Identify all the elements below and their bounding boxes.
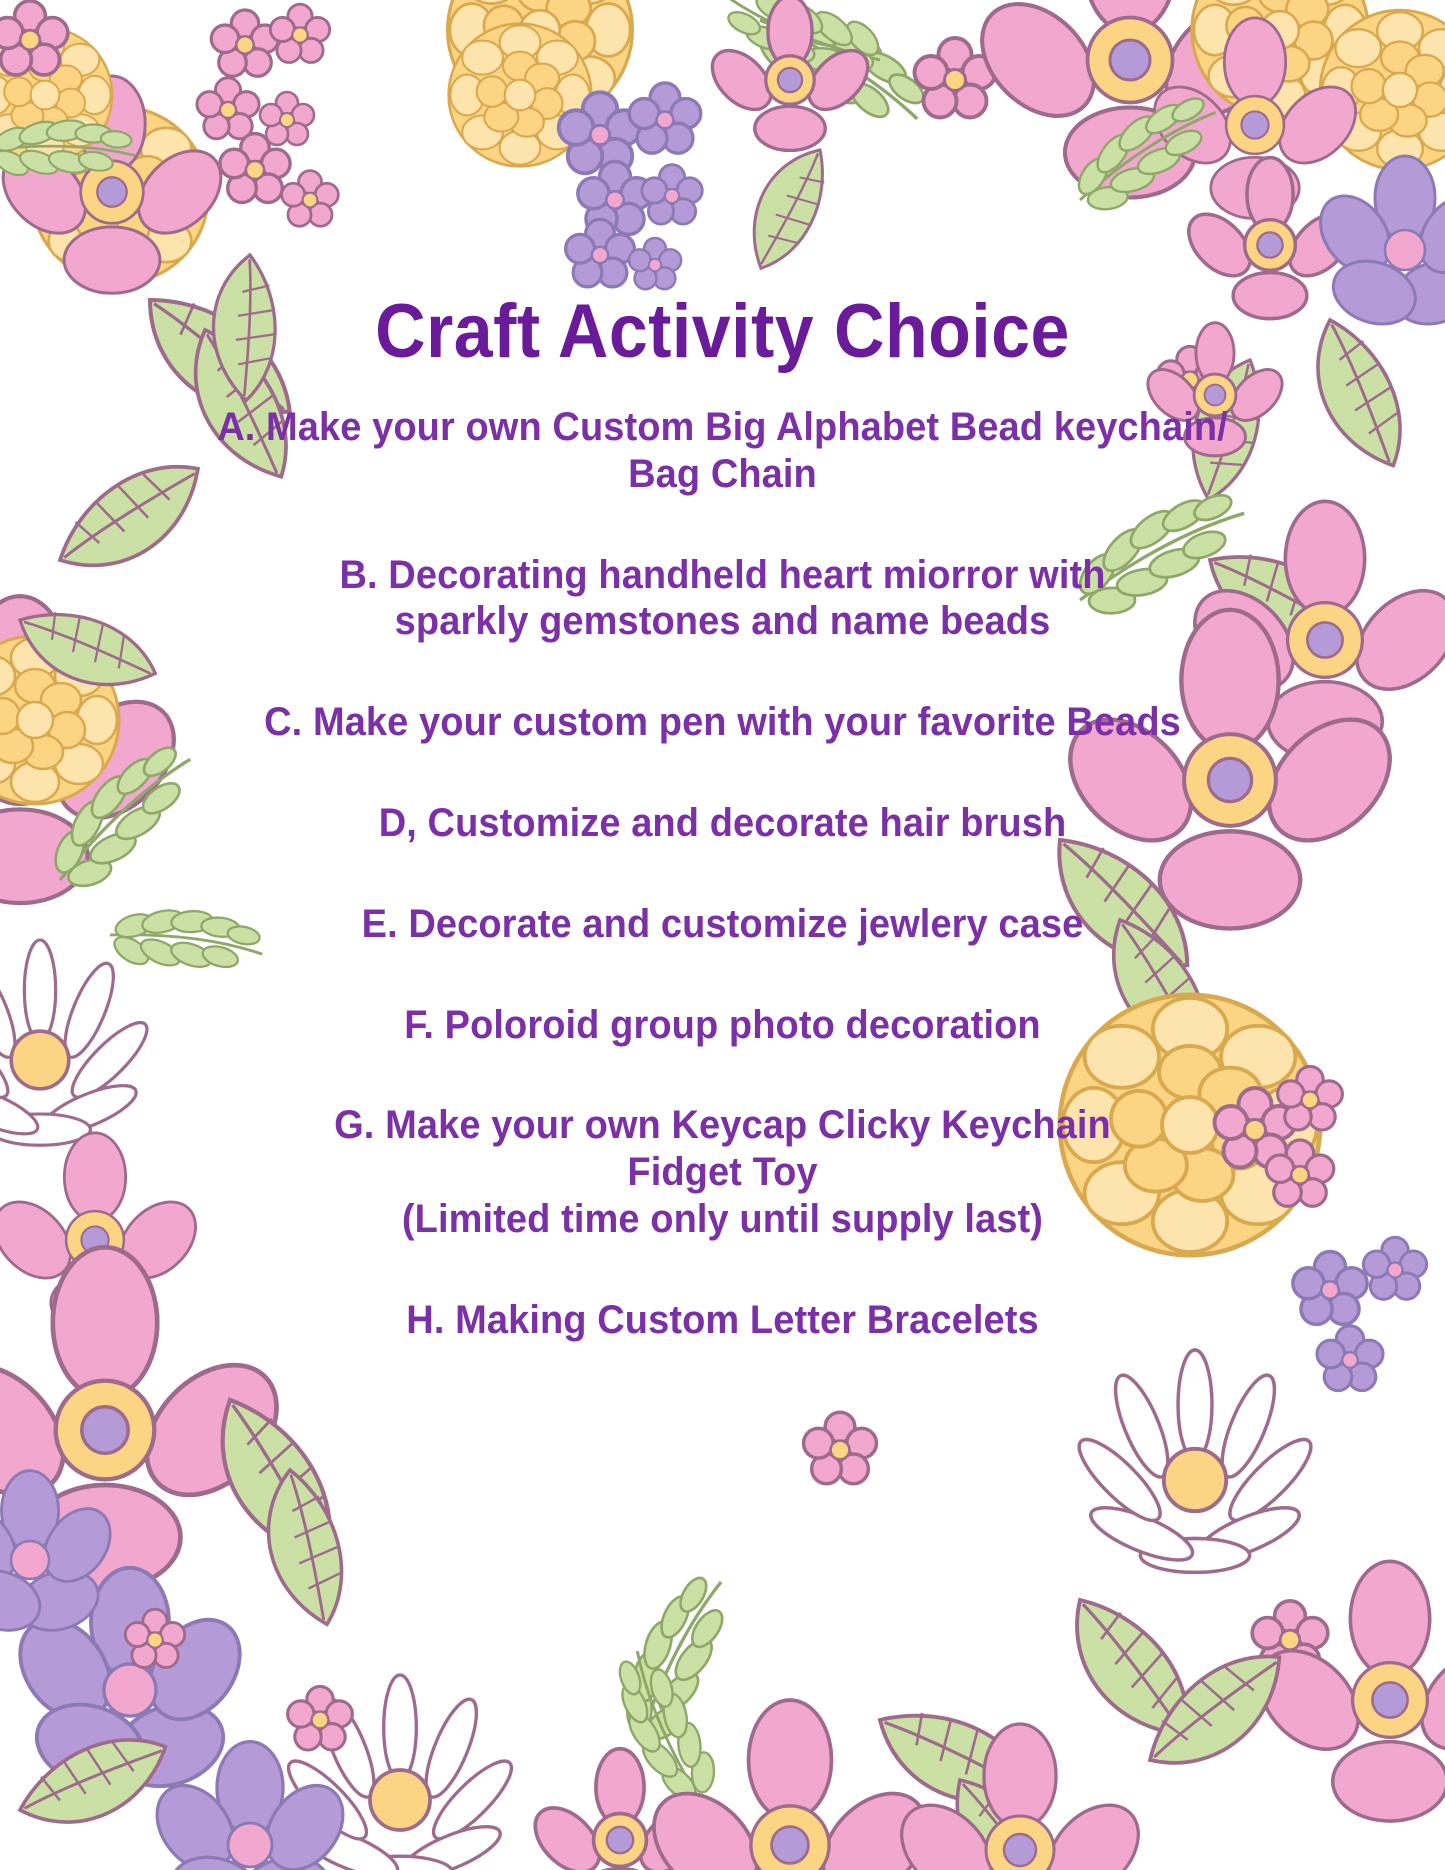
poster: Craft Activity Choice A. Make your own C… — [0, 0, 1445, 1870]
list-item-choice-f: F. Poloroid group photo decoration — [36, 1002, 1409, 1049]
list-item-choice-b: B. Decorating handheld heart miorror wit… — [36, 552, 1409, 646]
craft-choice-list: A. Make your own Custom Big Alphabet Bea… — [0, 404, 1445, 1344]
page-title: Craft Activity Choice — [58, 294, 1387, 370]
list-item-choice-h: H. Making Custom Letter Bracelets — [36, 1297, 1409, 1344]
poster-content: Craft Activity Choice A. Make your own C… — [0, 0, 1445, 1870]
list-item-choice-e: E. Decorate and customize jewlery case — [36, 901, 1409, 948]
list-item-choice-g: G. Make your own Keycap Clicky Keychain … — [36, 1102, 1409, 1242]
list-item-choice-c: C. Make your custom pen with your favori… — [36, 699, 1409, 746]
list-item-choice-d: D, Customize and decorate hair brush — [36, 800, 1409, 847]
list-item-choice-a: A. Make your own Custom Big Alphabet Bea… — [36, 404, 1409, 498]
